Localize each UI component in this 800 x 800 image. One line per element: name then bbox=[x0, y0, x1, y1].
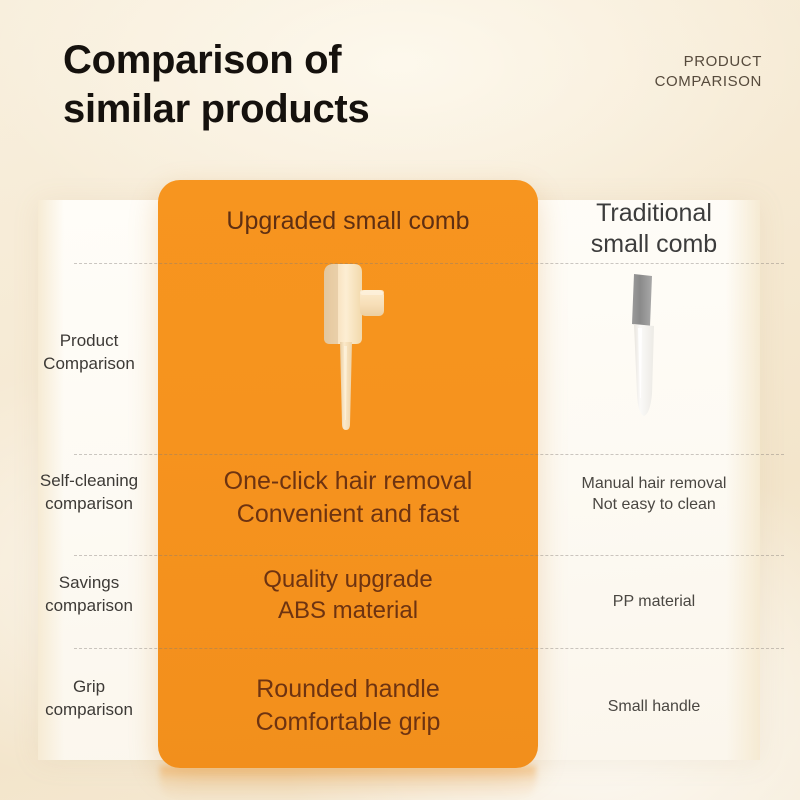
cell-line1: Quality upgrade bbox=[263, 566, 432, 593]
row-divider bbox=[74, 648, 784, 649]
cell-traditional-grip: Small handle bbox=[548, 696, 760, 717]
row-label-product-comparison: Product Comparison bbox=[18, 330, 160, 376]
traditional-comb-handle bbox=[634, 324, 654, 416]
traditional-comb-head bbox=[632, 274, 652, 326]
row-label-line1: Savings bbox=[59, 573, 119, 592]
row-label-line1: Self-cleaning bbox=[40, 471, 138, 490]
comb-nub-highlight bbox=[360, 290, 384, 295]
cell-upgraded-grip: Rounded handle Comfortable grip bbox=[158, 673, 538, 738]
row-divider bbox=[74, 454, 784, 455]
cell-line1: One-click hair removal bbox=[224, 467, 473, 495]
row-label-line2: Comparison bbox=[18, 353, 160, 376]
row-label-line1: Grip bbox=[73, 677, 105, 696]
row-label-line2: comparison bbox=[18, 493, 160, 516]
cell-line2: Not easy to clean bbox=[548, 494, 760, 515]
cell-upgraded-savings: Quality upgrade ABS material bbox=[158, 564, 538, 626]
page-title-line2: similar products bbox=[63, 85, 543, 134]
header-kicker-line2: COMPARISON bbox=[532, 72, 762, 92]
column-header-traditional-line2: small comb bbox=[548, 229, 760, 260]
row-divider bbox=[74, 263, 784, 264]
cell-traditional-self-cleaning: Manual hair removal Not easy to clean bbox=[548, 473, 760, 515]
column-header-traditional-line1: Traditional bbox=[596, 199, 712, 227]
cell-line2: ABS material bbox=[158, 595, 538, 626]
header-kicker: PRODUCT COMPARISON bbox=[532, 52, 762, 93]
comb-head-shadow bbox=[324, 264, 338, 344]
row-label-line2: comparison bbox=[18, 595, 160, 618]
cell-line1: Manual hair removal bbox=[582, 475, 727, 492]
row-label-savings-comparison: Savings comparison bbox=[18, 572, 160, 618]
column-header-upgraded: Upgraded small comb bbox=[158, 206, 538, 237]
upgraded-comb-illustration bbox=[300, 262, 410, 434]
highlight-column-reflection bbox=[160, 766, 536, 800]
row-divider bbox=[74, 555, 784, 556]
row-label-line2: comparison bbox=[18, 699, 160, 722]
cell-traditional-savings: PP material bbox=[548, 591, 760, 612]
row-label-grip-comparison: Grip comparison bbox=[18, 676, 160, 722]
header-kicker-line1: PRODUCT bbox=[684, 53, 762, 70]
page-title: Comparison of similar products bbox=[63, 36, 543, 134]
column-header-upgraded-label: Upgraded small comb bbox=[226, 207, 469, 235]
cell-line2: Comfortable grip bbox=[158, 706, 538, 739]
traditional-comb-illustration bbox=[612, 268, 690, 426]
cell-upgraded-self-cleaning: One-click hair removal Convenient and fa… bbox=[158, 465, 538, 530]
cell-line2: Convenient and fast bbox=[158, 498, 538, 531]
cell-line1: PP material bbox=[613, 593, 695, 610]
column-header-traditional: Traditional small comb bbox=[548, 198, 760, 259]
row-label-self-cleaning-comparison: Self-cleaning comparison bbox=[18, 470, 160, 516]
cell-line1: Rounded handle bbox=[256, 675, 440, 703]
header: Comparison of similar products PRODUCT C… bbox=[0, 0, 800, 165]
page-title-line1: Comparison of bbox=[63, 38, 341, 82]
row-label-line1: Product bbox=[60, 331, 119, 350]
cell-line1: Small handle bbox=[608, 698, 701, 715]
infographic-page: Comparison of similar products PRODUCT C… bbox=[0, 0, 800, 800]
